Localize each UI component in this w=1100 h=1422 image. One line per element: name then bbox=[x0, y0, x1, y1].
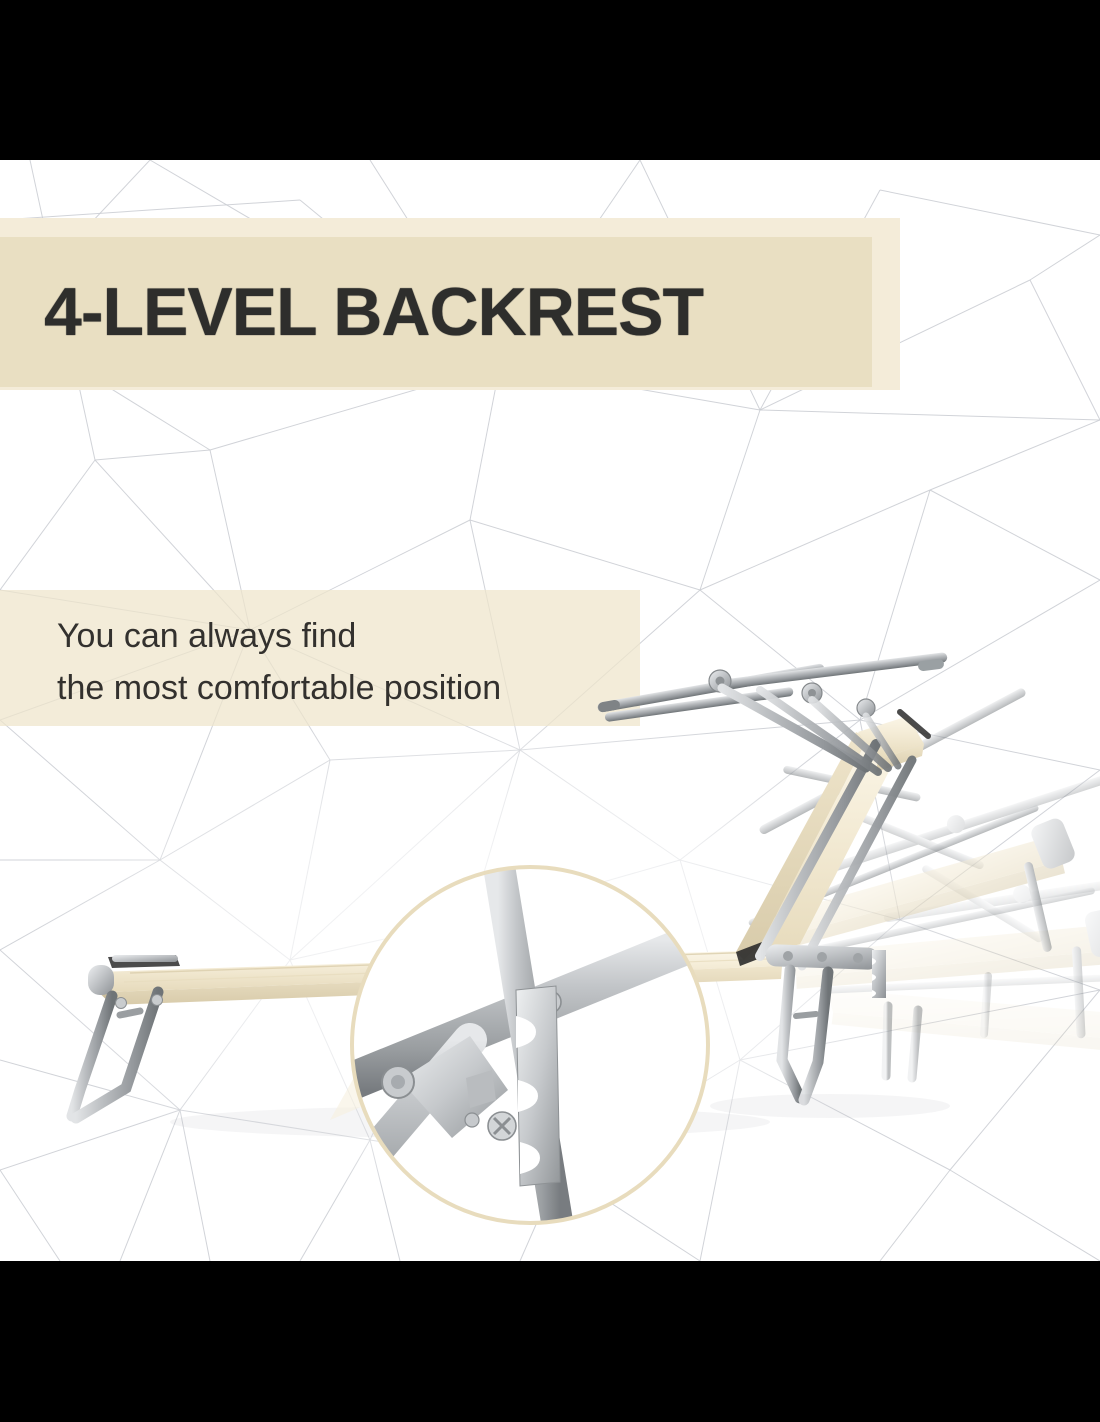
subtitle-line-1: You can always find bbox=[57, 610, 501, 662]
subtitle-block: You can always find the most comfortable… bbox=[57, 610, 501, 714]
subtitle-line-2: the most comfortable position bbox=[57, 662, 501, 714]
image-stage: 4-LEVEL BACKREST You can always find the… bbox=[0, 160, 1100, 1261]
product-feature-image: 4-LEVEL BACKREST You can always find the… bbox=[0, 0, 1100, 1422]
letterbox-bar-bottom bbox=[0, 1261, 1100, 1422]
page-title: 4-LEVEL BACKREST bbox=[44, 252, 703, 372]
letterbox-bar-top bbox=[0, 0, 1100, 160]
